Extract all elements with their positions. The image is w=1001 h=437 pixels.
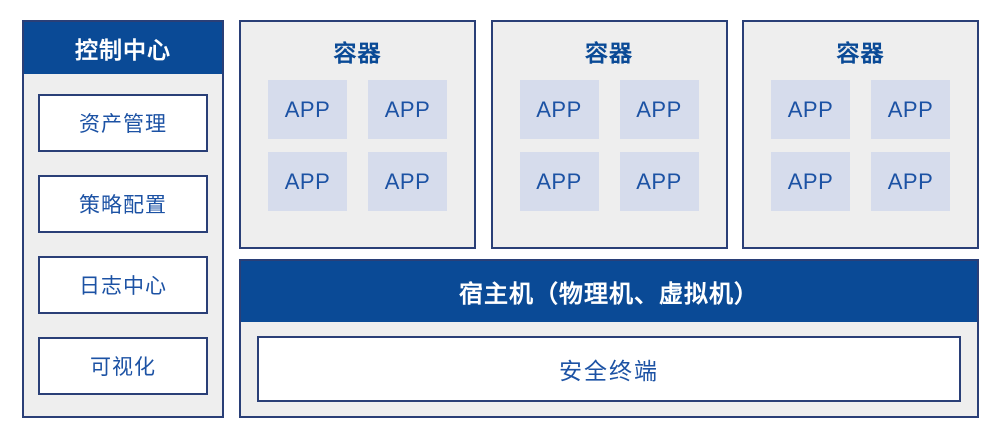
app-box[interactable]: APP	[771, 152, 850, 211]
app-box[interactable]: APP	[871, 80, 950, 139]
app-box[interactable]: APP	[620, 152, 699, 211]
sidebar-item-log-center[interactable]: 日志中心	[38, 256, 208, 314]
host-machine-panel: 宿主机（物理机、虚拟机） 安全终端	[239, 259, 979, 418]
host-machine-title: 宿主机（物理机、虚拟机）	[241, 261, 977, 322]
container-title: 容器	[837, 34, 885, 68]
right-column: 容器 APP APP APP APP 容器 APP APP APP APP	[239, 20, 979, 418]
container-panel-2: 容器 APP APP APP APP	[491, 20, 728, 249]
app-box[interactable]: APP	[771, 80, 850, 139]
control-center-panel: 控制中心 资产管理 策略配置 日志中心 可视化	[22, 20, 224, 418]
app-box[interactable]: APP	[368, 152, 447, 211]
app-grid: APP APP APP APP	[771, 80, 950, 211]
app-box[interactable]: APP	[520, 80, 599, 139]
sidebar-item-visualization[interactable]: 可视化	[38, 337, 208, 395]
app-box[interactable]: APP	[871, 152, 950, 211]
app-grid: APP APP APP APP	[268, 80, 447, 211]
control-center-item-list: 资产管理 策略配置 日志中心 可视化	[24, 74, 222, 416]
containers-row: 容器 APP APP APP APP 容器 APP APP APP APP	[239, 20, 979, 249]
host-machine-body: 安全终端	[241, 322, 977, 416]
container-panel-3: 容器 APP APP APP APP	[742, 20, 979, 249]
security-terminal-box[interactable]: 安全终端	[257, 336, 961, 402]
app-box[interactable]: APP	[368, 80, 447, 139]
app-box[interactable]: APP	[520, 152, 599, 211]
container-panel-1: 容器 APP APP APP APP	[239, 20, 476, 249]
container-title: 容器	[585, 34, 633, 68]
app-box[interactable]: APP	[268, 152, 347, 211]
architecture-diagram: 控制中心 资产管理 策略配置 日志中心 可视化 容器 APP APP APP A…	[0, 0, 1001, 437]
control-center-title: 控制中心	[24, 22, 222, 74]
app-grid: APP APP APP APP	[520, 80, 699, 211]
app-box[interactable]: APP	[620, 80, 699, 139]
sidebar-item-asset-management[interactable]: 资产管理	[38, 94, 208, 152]
container-title: 容器	[334, 34, 382, 68]
app-box[interactable]: APP	[268, 80, 347, 139]
sidebar-item-policy-configuration[interactable]: 策略配置	[38, 175, 208, 233]
